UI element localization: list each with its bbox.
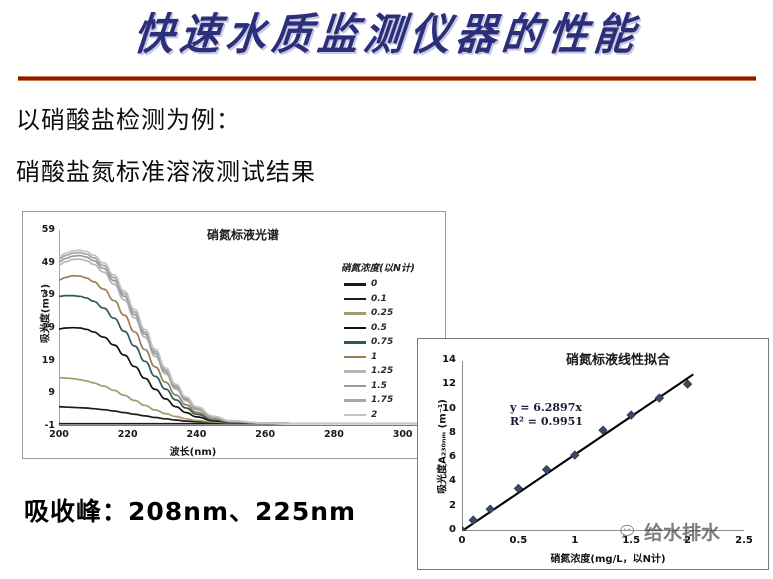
fit-x-tick: 0	[446, 535, 478, 546]
spectra-chart: 硝氮标液光谱 吸光度(m⁻¹) 波长(nm) -191929394959 200…	[22, 211, 446, 459]
legend-color-swatch	[344, 370, 366, 373]
spectra-y-tick: 19	[29, 355, 55, 366]
fit-equation-line: y = 6.2897x	[510, 401, 583, 415]
title-divider	[18, 76, 756, 81]
legend-title: 硝氮浓度(以N计)	[318, 260, 438, 274]
spectra-x-tick: 300	[387, 429, 419, 440]
body-text-line-2: 硝酸盐氮标准溶液测试结果	[16, 152, 316, 187]
spectra-y-axis-label: 吸光度(m⁻¹)	[37, 269, 52, 359]
spectra-y-tick: 59	[29, 224, 55, 235]
spectra-x-tick: 240	[180, 429, 212, 440]
legend-item-label: 0.25	[371, 308, 393, 318]
wechat-icon	[620, 524, 639, 540]
watermark-text: 给水排水	[644, 518, 720, 545]
fit-y-axis-label: 吸光度A₂₃₀ₙₘ (m⁻¹)	[434, 382, 449, 512]
legend-color-swatch	[344, 385, 366, 388]
fit-equation: y = 6.2897x R² = 0.9951	[510, 401, 583, 429]
legend-item-label: 1.75	[371, 395, 393, 405]
legend-item-label: 2	[371, 410, 377, 420]
fit-x-axis-label: 硝氮浓度(mg/L，以N计)	[478, 550, 738, 565]
legend-color-swatch	[344, 414, 366, 417]
legend-color-swatch	[344, 341, 366, 344]
legend-item-label: 0.75	[371, 337, 393, 347]
legend-item-label: 1.5	[371, 381, 387, 391]
fit-x-tick: 1	[559, 535, 591, 546]
fit-y-tick: 14	[432, 354, 456, 365]
legend-color-swatch	[344, 312, 366, 315]
fit-y-tick: 4	[432, 475, 456, 486]
legend-color-swatch	[344, 356, 366, 359]
fit-plot-area	[462, 361, 744, 531]
legend-color-swatch	[344, 327, 366, 330]
fit-y-tick: 10	[432, 403, 456, 414]
legend-item[interactable]: 0	[318, 277, 438, 292]
legend-item[interactable]: 0.25	[318, 306, 438, 321]
spectra-x-tick: 200	[43, 429, 75, 440]
fit-x-tick: 2.5	[728, 535, 760, 546]
page-title: 快速水质监测仪器的性能	[130, 2, 643, 69]
fit-y-tick: 0	[432, 524, 456, 535]
fit-x-tick: 0.5	[502, 535, 534, 546]
legend-item-label: 1.25	[371, 366, 393, 376]
title-block: 快速水质监测仪器的性能	[0, 4, 773, 72]
fit-r-squared-line: R² = 0.9951	[510, 415, 583, 429]
spectra-x-tick: 280	[318, 429, 350, 440]
spectra-y-tick: 39	[29, 289, 55, 300]
body-text-line-1: 以硝酸盐检测为例：	[16, 100, 241, 135]
spectra-y-tick: 29	[29, 322, 55, 333]
spectra-y-tick: 9	[29, 387, 55, 398]
spectra-x-tick: 260	[249, 429, 281, 440]
spectra-x-axis-label: 波长(nm)	[123, 443, 263, 458]
absorption-peak-text: 吸收峰：208nm、225nm	[24, 492, 356, 528]
fit-y-tick: 6	[432, 451, 456, 462]
legend-color-swatch	[344, 298, 366, 301]
legend-item-label: 0	[371, 279, 377, 289]
watermark: 给水排水	[620, 518, 720, 545]
spectra-x-tick: 220	[112, 429, 144, 440]
spectra-y-tick: 49	[29, 257, 55, 268]
fit-y-tick: 8	[432, 427, 456, 438]
fit-y-tick: 2	[432, 500, 456, 511]
legend-item-label: 1	[371, 352, 377, 362]
legend-item-label: 0.1	[371, 294, 387, 304]
legend-color-swatch	[344, 399, 366, 402]
legend-item-label: 0.5	[371, 323, 387, 333]
fit-y-tick: 12	[432, 378, 456, 389]
legend-item[interactable]: 0.1	[318, 292, 438, 307]
legend-color-swatch	[344, 283, 366, 286]
slide-canvas: 快速水质监测仪器的性能 以硝酸盐检测为例： 硝酸盐氮标准溶液测试结果 吸收峰：2…	[0, 0, 773, 579]
legend-item[interactable]: 0.5	[318, 321, 438, 336]
